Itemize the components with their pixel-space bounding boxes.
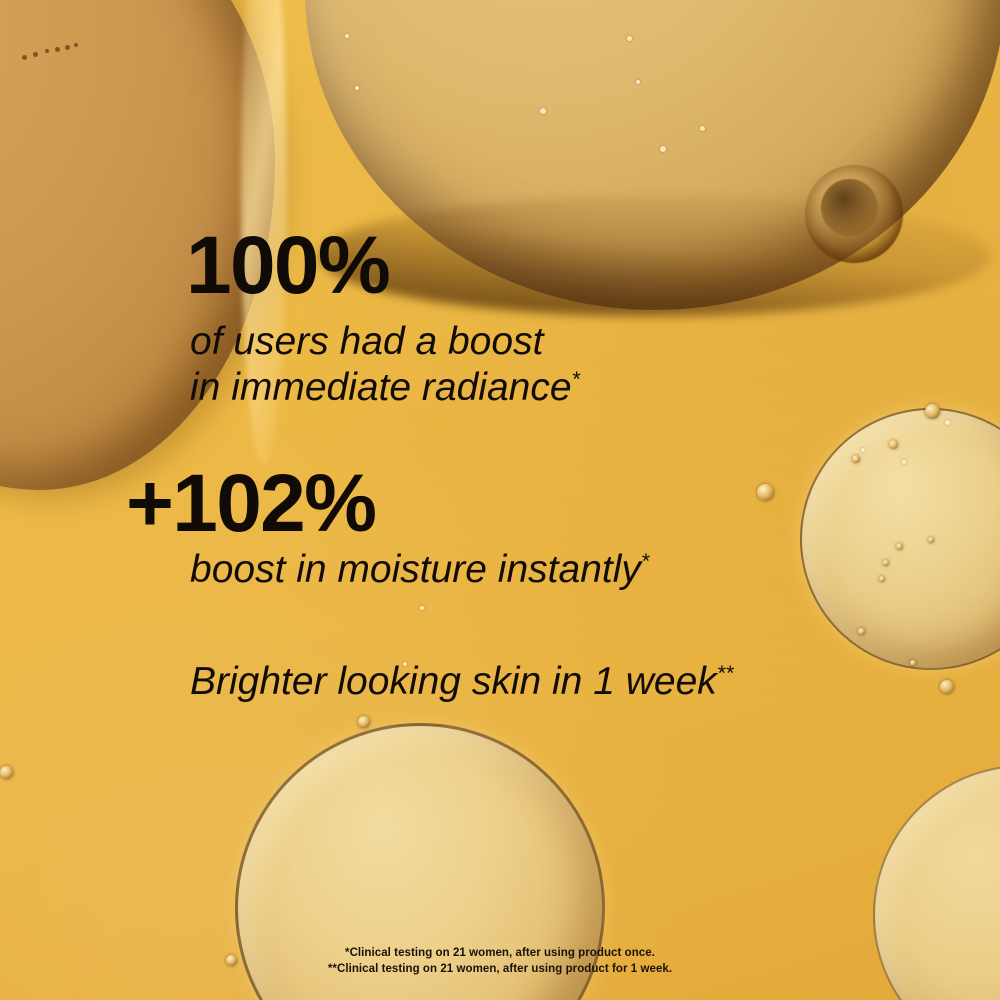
claim-moisture-line-1: boost in moisture instantly* [190, 548, 649, 592]
claim-moisture-footnote-marker: * [641, 549, 649, 573]
claims-copy-block: 100% of users had a boost in immediate r… [0, 0, 1000, 1000]
claim-brightness-line-text: Brighter looking skin in 1 week [190, 660, 717, 703]
claim-radiance-line-1: of users had a boost [190, 320, 543, 364]
claim-brightness-line: Brighter looking skin in 1 week** [190, 660, 733, 704]
footnote-double-asterisk: **Clinical testing on 21 women, after us… [0, 961, 1000, 978]
claim-radiance-line-2: in immediate radiance* [190, 366, 580, 410]
claim-radiance-footnote-marker: * [572, 367, 580, 391]
footnotes-block: *Clinical testing on 21 women, after usi… [0, 945, 1000, 978]
claim-moisture-line-1-text: boost in moisture instantly [190, 548, 641, 591]
promo-image-canvas: 100% of users had a boost in immediate r… [0, 0, 1000, 1000]
footnote-single-asterisk: *Clinical testing on 21 women, after usi… [0, 945, 1000, 962]
claim-radiance-line-2-text: in immediate radiance [190, 366, 572, 409]
claim-brightness-footnote-marker: ** [717, 661, 734, 685]
claim-moisture-stat: +102% [126, 466, 375, 541]
claim-radiance-stat: 100% [186, 228, 389, 303]
